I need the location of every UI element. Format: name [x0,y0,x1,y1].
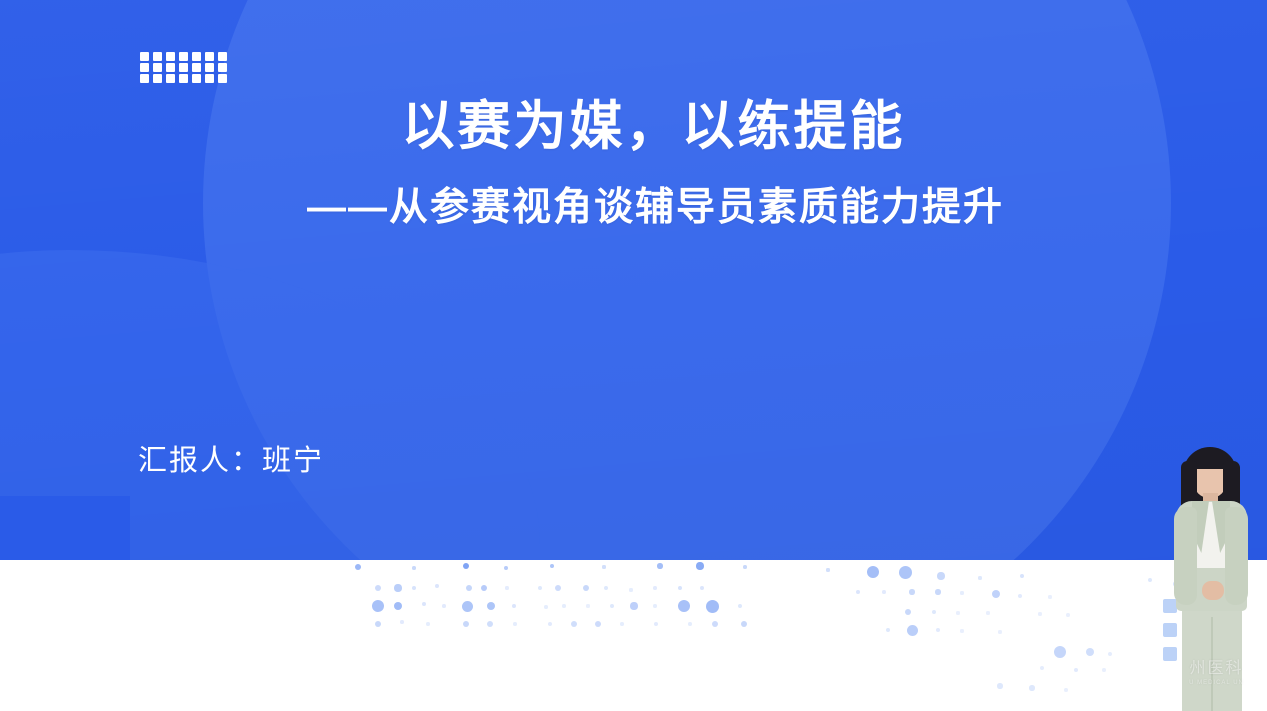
decor-dot [960,591,963,594]
decor-dot [998,630,1001,633]
decor-dot [899,566,912,579]
decor-dot [678,586,683,591]
decor-dot [653,586,657,590]
decor-dot [1040,666,1044,670]
decor-dot [1064,688,1068,692]
dot-grid-cell [218,63,227,72]
decor-dot [610,604,614,608]
decor-dot [856,590,860,594]
dot-grid-cell [179,74,188,83]
dot-grid-cell [140,74,149,83]
decor-dot [620,622,624,626]
decor-dot [826,568,829,571]
decor-dot [932,610,936,614]
decor-dot [886,628,890,632]
decor-dot [712,621,719,628]
presenter-figure [1152,441,1267,711]
dot-grid-cell [218,52,227,61]
dot-grid-cell [153,52,162,61]
dot-grid-cell [218,74,227,83]
decor-dot [630,602,637,609]
decor-dot [548,622,552,626]
decor-dot [1108,652,1112,656]
title-slide: 以赛为媒，以练提能 ——从参赛视角谈辅导员素质能力提升 汇报人：班宁 州医科 U… [0,0,1267,711]
decor-dot [602,565,605,568]
decor-dot [678,600,690,612]
decor-dot [375,621,381,627]
decor-dot [400,620,404,624]
decor-dot [512,604,516,608]
decor-dot [595,621,601,627]
decor-dot [937,572,944,579]
figure-hands [1202,581,1224,600]
dot-grid-cell [179,52,188,61]
decor-dot [657,563,662,568]
decor-dot [909,589,914,594]
decor-dot [700,586,704,590]
decor-dot [487,602,495,610]
dot-grid-cell [166,63,175,72]
dot-grid-cell [166,74,175,83]
decor-dot [992,590,1000,598]
figure-trouser-seam [1211,617,1213,711]
decor-dot [442,604,446,608]
decor-dot [435,584,440,589]
dot-grid-cell [153,63,162,72]
dot-grid-cell [192,63,201,72]
decor-dot [481,585,487,591]
decor-dot [706,600,719,613]
figure-arm-left [1174,507,1197,605]
decor-dot [1074,668,1078,672]
dot-grid-icon [140,52,227,83]
decor-dot [907,625,918,636]
decor-dot [905,609,912,616]
decor-dot [629,588,632,591]
decor-dot [997,683,1002,688]
dot-grid-cell [140,52,149,61]
decor-dot [741,621,748,628]
decor-dot [738,604,742,608]
decor-dot [1086,648,1094,656]
decor-dot [394,584,401,591]
decor-dot [412,566,416,570]
decor-dot [882,590,886,594]
dot-grid-cell [205,63,214,72]
dot-grid-cell [179,63,188,72]
decor-dot [688,622,692,626]
decor-dot [653,604,657,608]
decor-dot [867,566,879,578]
decor-dot [960,629,963,632]
decor-dot [583,585,589,591]
decor-dot [1038,612,1041,615]
figure-arm-right [1225,507,1248,605]
decor-dot [586,604,589,607]
decor-dot [412,586,416,590]
decor-dot [1066,613,1070,617]
decor-dot [463,563,470,570]
bottom-decor-panel [0,560,1267,711]
decor-dot [550,564,555,569]
decor-dot [463,621,469,627]
decor-dot [466,585,473,592]
decor-dot [544,605,548,609]
decor-dot [1054,646,1066,658]
decor-dot [956,611,959,614]
decor-dot [935,589,940,594]
dot-grid-cell [166,52,175,61]
decor-dot [422,602,426,606]
decor-dot [355,564,361,570]
decor-dot [394,602,402,610]
dot-grid-cell [192,74,201,83]
presenter-label: 汇报人：班宁 [138,437,324,479]
decor-dot [375,585,381,591]
decor-dot [986,611,989,614]
dot-grid-cell [205,52,214,61]
decor-dot [1029,685,1034,690]
decor-dot [487,621,493,627]
decor-dot [743,565,747,569]
decor-dot [1102,668,1106,672]
dot-grid-cell [153,74,162,83]
decor-dot [571,621,577,627]
decor-dot [513,622,517,626]
decor-dot [562,604,566,608]
decor-dot [978,576,981,579]
dot-grid-cell [205,74,214,83]
dot-grid-cell [140,63,149,72]
decor-dot [936,628,940,632]
decor-dot [426,622,430,626]
decor-dot [654,622,658,626]
decor-dot [538,586,542,590]
decor-dot [372,600,384,612]
decor-dot [555,585,561,591]
decor-dot [696,562,703,569]
decor-dot [1048,595,1051,598]
decor-dot [462,601,473,612]
decor-dot [604,586,608,590]
dot-grid-cell [192,52,201,61]
decor-dot [504,566,508,570]
decor-dot [505,586,508,589]
decor-dot [1018,594,1022,598]
decor-dot [1020,574,1024,578]
